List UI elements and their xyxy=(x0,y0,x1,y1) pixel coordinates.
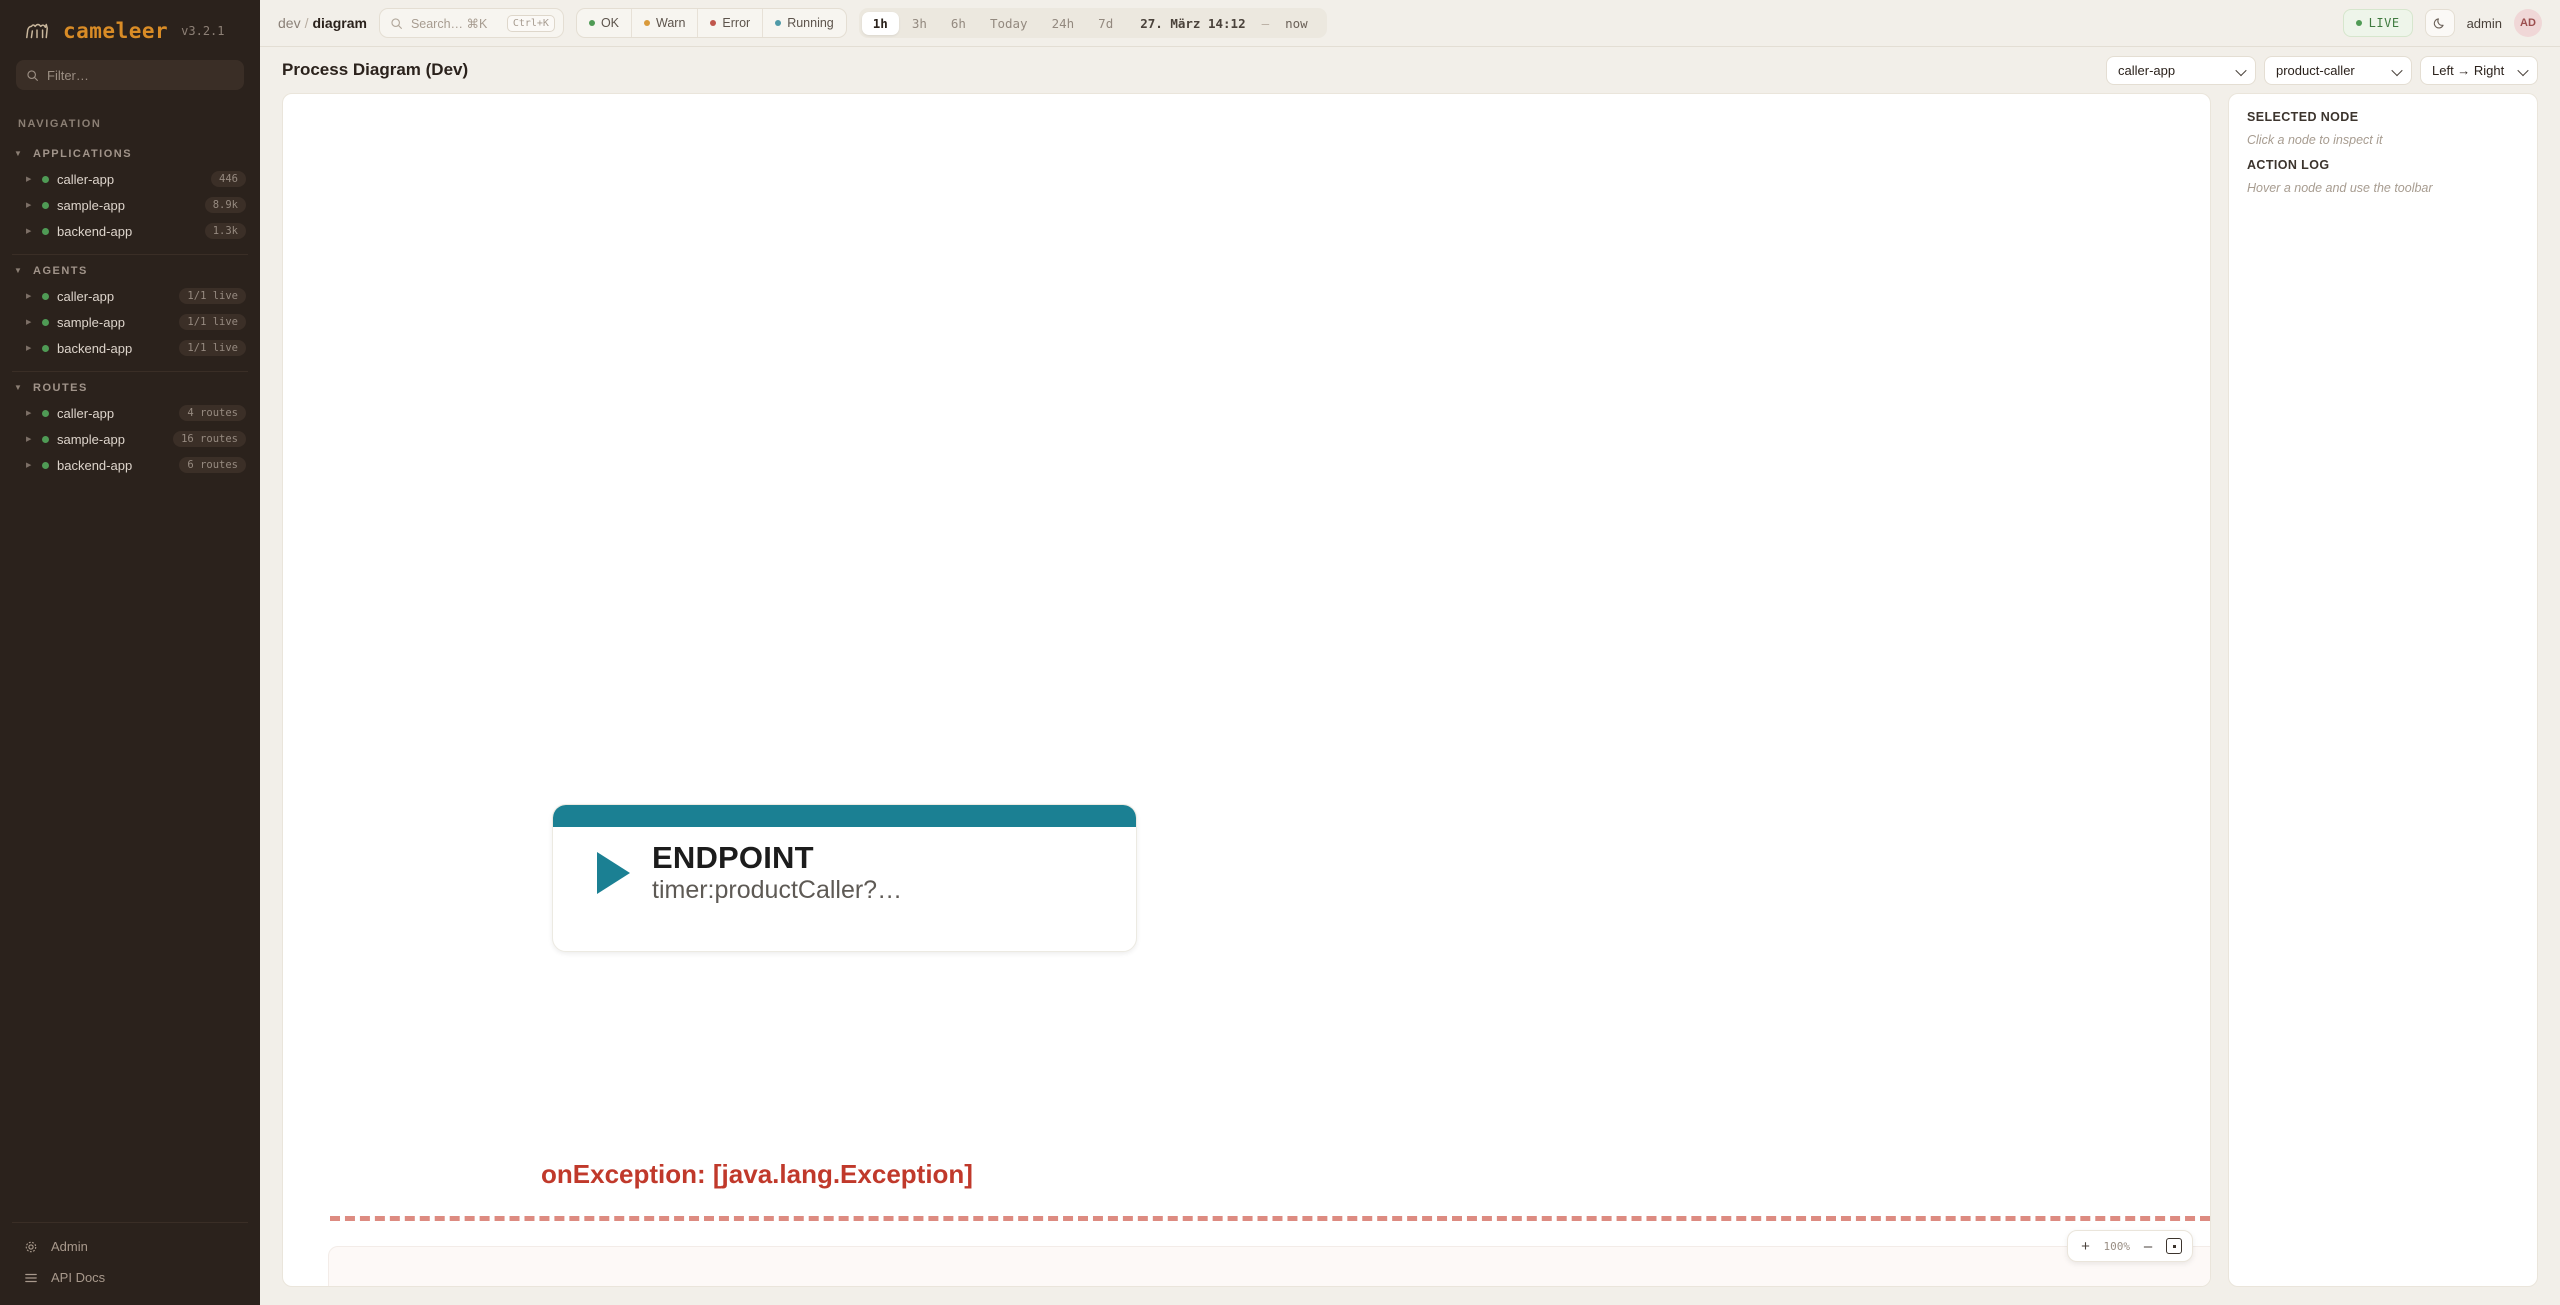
sidebar-item-badge: 1/1 live xyxy=(179,340,246,356)
live-status-badge[interactable]: LIVE xyxy=(2343,9,2413,37)
group-header-applications[interactable]: ▼ APPLICATIONS xyxy=(0,142,260,166)
node-content: ENDPOINT timer:productCaller?… xyxy=(553,827,1136,905)
chevron-right-icon: ▶ xyxy=(26,318,34,326)
time-range-end: now xyxy=(1274,12,1319,35)
page-title: Process Diagram (Dev) xyxy=(282,60,468,80)
time-range-today[interactable]: Today xyxy=(979,12,1039,35)
chevron-right-icon: ▶ xyxy=(26,227,34,235)
sidebar-item-agents-sample-app[interactable]: ▶ sample-app 1/1 live xyxy=(0,309,260,335)
status-dot xyxy=(42,462,49,469)
breadcrumb-root[interactable]: dev xyxy=(278,15,301,31)
sidebar-item-agents-backend-app[interactable]: ▶ backend-app 1/1 live xyxy=(0,335,260,361)
sidebar-item-routes-sample-app[interactable]: ▶ sample-app 16 routes xyxy=(0,426,260,452)
status-pill-label: Error xyxy=(722,16,750,30)
direction-select[interactable]: Left → Right xyxy=(2420,56,2538,85)
sidebar-item-badge: 8.9k xyxy=(205,197,246,213)
node-text-block: ENDPOINT timer:productCaller?… xyxy=(652,841,902,905)
status-dot xyxy=(42,202,49,209)
status-pill-warn[interactable]: Warn xyxy=(632,9,698,37)
sidebar-item-label: caller-app xyxy=(57,172,203,187)
sidebar-divider xyxy=(12,254,248,255)
nav-section-title: NAVIGATION xyxy=(0,106,260,138)
group-label: AGENTS xyxy=(33,265,88,277)
sidebar-item-api-docs[interactable]: API Docs xyxy=(0,1262,260,1293)
time-range-24h[interactable]: 24h xyxy=(1041,12,1086,35)
search-placeholder: Search… ⌘K xyxy=(411,16,499,31)
theme-toggle-button[interactable] xyxy=(2425,9,2455,37)
sidebar-item-badge: 4 routes xyxy=(179,405,246,421)
filter-input[interactable]: Filter… xyxy=(16,60,244,90)
topbar: dev/diagram Search… ⌘K Ctrl+K OK Warn xyxy=(260,0,2560,47)
chevron-right-icon: ▶ xyxy=(26,292,34,300)
status-dot xyxy=(42,410,49,417)
status-dot xyxy=(42,436,49,443)
play-triangle-icon xyxy=(597,852,630,894)
sidebar-group-routes: ▼ ROUTES ▶ caller-app 4 routes ▶ sample-… xyxy=(0,376,260,478)
brand-name: cameleer xyxy=(63,19,168,43)
chevron-right-icon: ▶ xyxy=(26,435,34,443)
sidebar-footer-label: API Docs xyxy=(51,1270,105,1285)
fit-to-screen-icon xyxy=(2166,1238,2182,1254)
sidebar-divider xyxy=(12,371,248,372)
group-header-agents[interactable]: ▼ AGENTS xyxy=(0,259,260,283)
time-range-3h[interactable]: 3h xyxy=(901,12,938,35)
fit-to-screen-button[interactable] xyxy=(2162,1234,2186,1258)
zoom-out-button[interactable]: – xyxy=(2136,1234,2160,1258)
diagram-controls: caller-app product-caller Left → Right xyxy=(2106,56,2538,85)
sidebar-group-applications: ▼ APPLICATIONS ▶ caller-app 446 ▶ sample… xyxy=(0,142,260,244)
brand-version: v3.2.1 xyxy=(181,24,224,38)
action-log-hint: Hover a node and use the toolbar xyxy=(2247,181,2519,195)
status-pill-running[interactable]: Running xyxy=(763,9,846,37)
sidebar-item-routes-caller-app[interactable]: ▶ caller-app 4 routes xyxy=(0,400,260,426)
sidebar-item-label: backend-app xyxy=(57,341,171,356)
status-dot xyxy=(42,293,49,300)
node-header-bar xyxy=(553,805,1136,827)
chevron-right-icon: ▶ xyxy=(26,344,34,352)
chevron-right-icon: ▶ xyxy=(26,461,34,469)
status-dot-warn xyxy=(644,20,650,26)
sidebar-item-label: backend-app xyxy=(57,224,197,239)
app-select[interactable]: caller-app xyxy=(2106,56,2256,85)
group-label: ROUTES xyxy=(33,382,88,394)
status-pill-label: Warn xyxy=(656,16,685,30)
live-label: LIVE xyxy=(2369,16,2400,30)
main-area: dev/diagram Search… ⌘K Ctrl+K OK Warn xyxy=(260,0,2560,1305)
time-range-group: 1h 3h 6h Today 24h 7d 27. März 14:12 – n… xyxy=(859,8,1327,38)
sidebar-item-routes-backend-app[interactable]: ▶ backend-app 6 routes xyxy=(0,452,260,478)
search-icon xyxy=(390,17,403,30)
user-name: admin xyxy=(2467,16,2502,31)
sidebar-item-label: backend-app xyxy=(57,458,171,473)
sidebar-filter-wrap: Filter… xyxy=(0,60,260,106)
status-dot xyxy=(42,319,49,326)
sidebar-item-label: sample-app xyxy=(57,432,165,447)
zoom-controls: + 100% – xyxy=(2067,1230,2194,1262)
breadcrumb-separator: / xyxy=(305,15,309,31)
menu-icon xyxy=(24,1271,38,1285)
sidebar-item-badge: 1/1 live xyxy=(179,288,246,304)
route-select-wrap: product-caller xyxy=(2264,56,2412,85)
camel-icon xyxy=(22,18,52,44)
sidebar-item-applications-backend-app[interactable]: ▶ backend-app 1.3k xyxy=(0,218,260,244)
sidebar-item-badge: 1.3k xyxy=(205,223,246,239)
brand[interactable]: cameleer v3.2.1 xyxy=(0,0,260,60)
selected-node-hint: Click a node to inspect it xyxy=(2247,133,2519,147)
status-dot xyxy=(42,176,49,183)
search-icon xyxy=(26,69,39,82)
sidebar-item-applications-sample-app[interactable]: ▶ sample-app 8.9k xyxy=(0,192,260,218)
exception-boundary-line xyxy=(330,1216,2210,1221)
inspector-panel: SELECTED NODE Click a node to inspect it… xyxy=(2228,93,2538,1287)
exception-handler-label: onException: [java.lang.Exception] xyxy=(541,1159,973,1190)
gear-icon xyxy=(24,1240,38,1254)
time-range-6h[interactable]: 6h xyxy=(940,12,977,35)
time-range-1h[interactable]: 1h xyxy=(862,12,899,35)
sidebar-item-label: sample-app xyxy=(57,315,171,330)
sidebar-item-label: sample-app xyxy=(57,198,197,213)
status-pill-error[interactable]: Error xyxy=(698,9,763,37)
diagram-canvas[interactable]: ENDPOINT timer:productCaller?… onExcepti… xyxy=(282,93,2211,1287)
status-filter-group: OK Warn Error Running xyxy=(576,8,847,38)
direction-select-wrap: Left → Right xyxy=(2420,56,2538,85)
status-pill-ok[interactable]: OK xyxy=(577,9,632,37)
page-header: Process Diagram (Dev) caller-app product… xyxy=(260,47,2560,93)
sidebar-item-label: caller-app xyxy=(57,289,171,304)
chevron-down-icon: ▼ xyxy=(14,267,23,275)
sidebar-footer: Admin API Docs xyxy=(0,1212,260,1305)
node-uri-label: timer:productCaller?… xyxy=(652,876,902,905)
selected-node-title: SELECTED NODE xyxy=(2247,110,2519,124)
exception-region xyxy=(328,1246,2211,1287)
moon-icon xyxy=(2433,16,2447,30)
group-header-routes[interactable]: ▼ ROUTES xyxy=(0,376,260,400)
status-dot xyxy=(42,345,49,352)
zoom-in-button[interactable]: + xyxy=(2074,1234,2098,1258)
status-dot xyxy=(42,228,49,235)
node-type-label: ENDPOINT xyxy=(652,841,902,874)
chevron-down-icon: ▼ xyxy=(14,150,23,158)
sidebar-item-badge: 446 xyxy=(211,171,246,187)
sidebar-item-badge: 6 routes xyxy=(179,457,246,473)
live-dot-icon xyxy=(2356,20,2362,26)
action-log-title: ACTION LOG xyxy=(2247,158,2519,172)
app-select-wrap: caller-app xyxy=(2106,56,2256,85)
sidebar-item-agents-caller-app[interactable]: ▶ caller-app 1/1 live xyxy=(0,283,260,309)
chevron-right-icon: ▶ xyxy=(26,201,34,209)
chevron-right-icon: ▶ xyxy=(26,175,34,183)
breadcrumb-current: diagram xyxy=(312,15,366,31)
sidebar-footer-label: Admin xyxy=(51,1239,88,1254)
filter-placeholder: Filter… xyxy=(47,68,89,83)
search-input[interactable]: Search… ⌘K Ctrl+K xyxy=(379,8,564,38)
sidebar-item-badge: 1/1 live xyxy=(179,314,246,330)
chevron-right-icon: ▶ xyxy=(26,409,34,417)
sidebar-item-admin[interactable]: Admin xyxy=(0,1231,260,1262)
app-root: cameleer v3.2.1 Filter… NAVIGATION ▼ APP… xyxy=(0,0,2560,1305)
group-label: APPLICATIONS xyxy=(33,148,132,160)
time-range-start: 27. März 14:12 xyxy=(1126,12,1256,35)
route-select[interactable]: product-caller xyxy=(2264,56,2412,85)
sidebar-divider xyxy=(12,1222,248,1223)
status-dot-running xyxy=(775,20,781,26)
diagram-node-endpoint[interactable]: ENDPOINT timer:productCaller?… xyxy=(552,804,1137,952)
sidebar-item-badge: 16 routes xyxy=(173,431,246,447)
status-dot-ok xyxy=(589,20,595,26)
status-pill-label: OK xyxy=(601,16,619,30)
sidebar: cameleer v3.2.1 Filter… NAVIGATION ▼ APP… xyxy=(0,0,260,1305)
chevron-down-icon: ▼ xyxy=(14,384,23,392)
time-range-7d[interactable]: 7d xyxy=(1087,12,1124,35)
status-pill-label: Running xyxy=(787,16,834,30)
sidebar-item-label: caller-app xyxy=(57,406,171,421)
sidebar-item-applications-caller-app[interactable]: ▶ caller-app 446 xyxy=(0,166,260,192)
search-shortcut-badge: Ctrl+K xyxy=(507,15,555,32)
content-body: ENDPOINT timer:productCaller?… onExcepti… xyxy=(260,93,2560,1305)
zoom-level-label: 100% xyxy=(2100,1240,2135,1253)
breadcrumb[interactable]: dev/diagram xyxy=(278,15,367,31)
status-dot-error xyxy=(710,20,716,26)
sidebar-group-agents: ▼ AGENTS ▶ caller-app 1/1 live ▶ sample-… xyxy=(0,259,260,361)
avatar[interactable]: AD xyxy=(2514,9,2542,37)
time-range-dash: – xyxy=(1259,12,1273,35)
sidebar-nav: NAVIGATION ▼ APPLICATIONS ▶ caller-app 4… xyxy=(0,106,260,1212)
